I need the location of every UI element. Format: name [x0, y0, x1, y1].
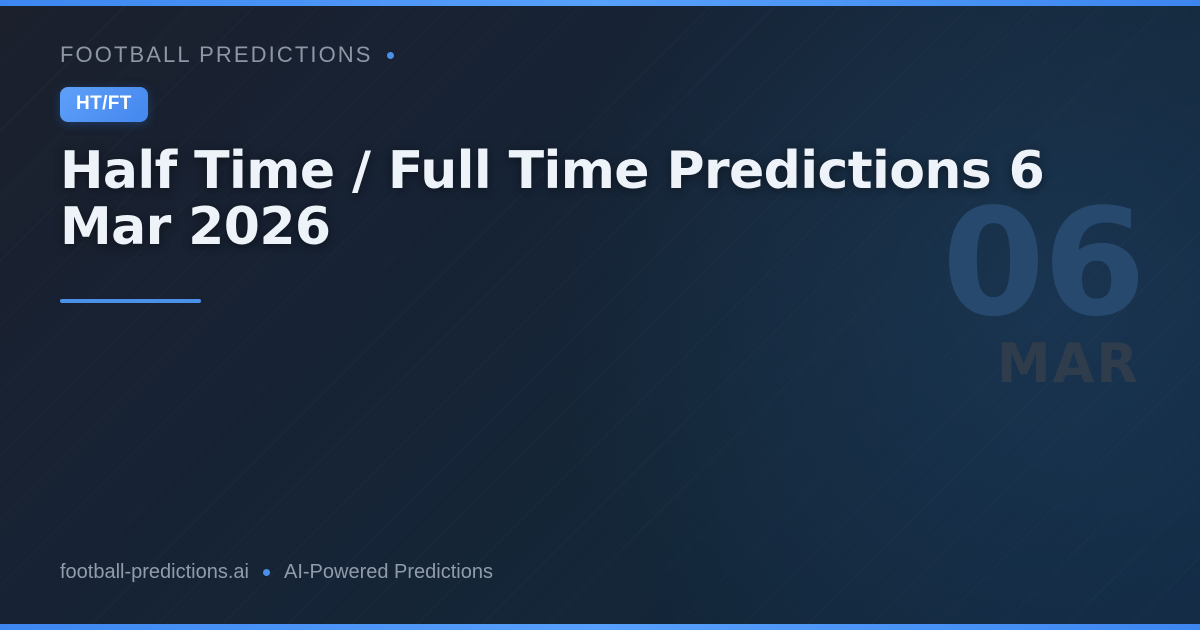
bullet-dot-icon — [263, 569, 270, 576]
footer: football-predictions.ai AI-Powered Predi… — [60, 561, 493, 584]
kicker-label: FOOTBALL PREDICTIONS — [60, 42, 373, 68]
title-accent-rule — [60, 299, 201, 303]
og-share-card: 06 MAR FOOTBALL PREDICTIONS HT/FT Half T… — [0, 0, 1200, 630]
footer-tagline: AI-Powered Predictions — [284, 561, 493, 584]
top-accent-bar — [0, 0, 1200, 6]
category-badge: HT/FT — [60, 87, 148, 122]
page-title: Half Time / Full Time Predictions 6 Mar … — [60, 144, 1060, 255]
card-content: FOOTBALL PREDICTIONS HT/FT Half Time / F… — [60, 42, 1070, 303]
bullet-dot-icon — [387, 52, 394, 59]
footer-site-name: football-predictions.ai — [60, 561, 249, 584]
kicker: FOOTBALL PREDICTIONS — [60, 42, 1070, 68]
bottom-accent-bar — [0, 624, 1200, 630]
